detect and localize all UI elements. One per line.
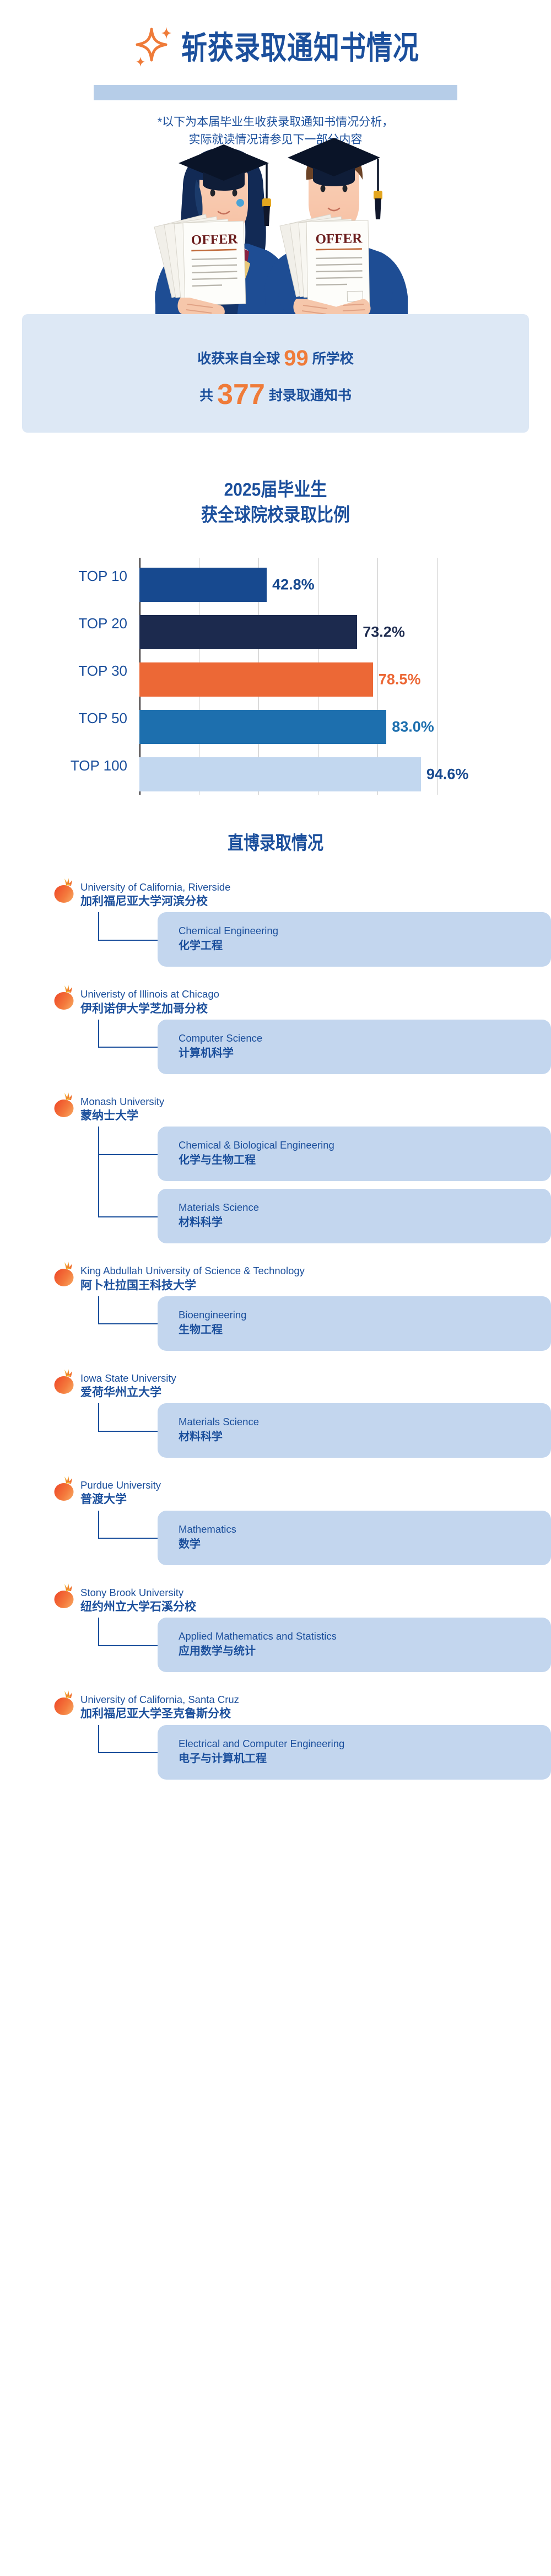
chart-title: 2025届毕业生 获全球院校录取比例 <box>0 477 551 529</box>
university-block: Stony Brook University纽约州立大学石溪分校Applied … <box>0 1585 551 1672</box>
major-item: Applied Mathematics and Statistics应用数学与统… <box>158 1618 551 1672</box>
tree-spine <box>98 1403 99 1431</box>
page-header: 斩获录取通知书情况 *以下为本届毕业生收获录取通知书情况分析， 实际就读情况请参… <box>0 0 551 110</box>
chart-bar: TOP 1042.8% <box>139 568 267 602</box>
major-chip: Chemical & Biological Engineering化学与生物工程 <box>158 1127 551 1181</box>
chart-bar-row: TOP 10094.6% <box>139 751 437 798</box>
chart-category-label: TOP 50 <box>2 710 139 727</box>
university-block: University of California, Riverside加利福尼亚… <box>0 880 551 967</box>
university-names: Purdue University普渡大学 <box>54 1478 551 1507</box>
pomegranate-icon <box>53 1260 77 1287</box>
pomegranate-icon <box>53 983 77 1011</box>
page-title: 斩获录取通知书情况 <box>181 31 419 63</box>
stats-banner: 收获来自全球99所学校 共377封录取通知书 <box>22 314 529 433</box>
pomegranate-icon <box>53 1582 77 1609</box>
major-name-cn: 材料科学 <box>179 1215 534 1230</box>
chart-title-line-2: 获全球院校录取比例 <box>0 503 551 529</box>
chart-value-label: 94.6% <box>426 766 469 783</box>
tree-spine <box>98 1511 99 1538</box>
chart-category-label: TOP 10 <box>2 568 139 585</box>
major-name-en: Mathematics <box>179 1523 534 1536</box>
chart-value-label: 78.5% <box>379 671 421 688</box>
major-item: Chemical & Biological Engineering化学与生物工程 <box>158 1127 551 1181</box>
major-chip: Chemical Engineering化学工程 <box>158 912 551 967</box>
major-chip: Materials Science材料科学 <box>158 1189 551 1243</box>
university-name-cn: 普渡大学 <box>80 1492 551 1507</box>
university-name-en: Iowa State University <box>80 1372 551 1384</box>
pomegranate-icon <box>53 1091 77 1118</box>
stats-line-offers: 共377封录取通知书 <box>22 379 529 411</box>
tree-branch <box>98 1431 158 1432</box>
major-chip: Bioengineering生物工程 <box>158 1296 551 1351</box>
chart-category-label: TOP 100 <box>2 757 139 774</box>
stats-offers-prefix: 共 <box>199 388 213 403</box>
university-name-cn: 加利福尼亚大学河滨分校 <box>80 894 551 909</box>
major-item: Materials Science材料科学 <box>158 1403 551 1458</box>
university-names: Univeristy of Illinois at Chicago伊利诺伊大学芝… <box>54 987 551 1016</box>
phd-section-title: 直博录取情况 <box>0 828 551 855</box>
university-name-en: University of California, Riverside <box>80 881 551 893</box>
major-list: Mathematics数学 <box>80 1511 551 1565</box>
major-chip: Materials Science材料科学 <box>158 1403 551 1458</box>
stats-schools-prefix: 收获来自全球 <box>197 351 280 367</box>
chart-bar-row: TOP 3078.5% <box>139 656 437 703</box>
pomegranate-icon <box>53 983 77 1011</box>
major-list: Chemical Engineering化学工程 <box>80 912 551 967</box>
chart-category-label: TOP 30 <box>2 662 139 680</box>
university-name-en: Univeristy of Illinois at Chicago <box>80 988 551 1000</box>
university-name-cn: 伊利诺伊大学芝加哥分校 <box>80 1001 551 1016</box>
major-name-cn: 电子与计算机工程 <box>179 1752 534 1766</box>
pomegranate-icon <box>53 1689 77 1716</box>
major-name-cn: 应用数学与统计 <box>179 1644 534 1659</box>
title-underbar <box>94 85 457 100</box>
major-item: Electrical and Computer Engineering电子与计算… <box>158 1725 551 1780</box>
major-list: Bioengineering生物工程 <box>80 1296 551 1351</box>
chart-title-line-1: 2025届毕业生 <box>0 477 551 503</box>
university-names: Stony Brook University纽约州立大学石溪分校 <box>54 1585 551 1614</box>
pomegranate-icon <box>53 1260 77 1287</box>
major-item: Bioengineering生物工程 <box>158 1296 551 1351</box>
tree-spine <box>98 1127 99 1216</box>
chart-value-label: 42.8% <box>272 576 315 593</box>
university-name-cn: 阿卜杜拉国王科技大学 <box>80 1278 551 1293</box>
major-name-cn: 材料科学 <box>179 1430 534 1445</box>
university-block: Monash University蒙纳士大学Chemical & Biologi… <box>0 1094 551 1244</box>
tree-branch <box>98 1323 158 1324</box>
major-list: Applied Mathematics and Statistics应用数学与统… <box>80 1618 551 1672</box>
pomegranate-icon <box>53 1689 77 1716</box>
tree-branch <box>98 1752 158 1753</box>
stats-offers-count: 377 <box>213 379 269 411</box>
chart-bar: TOP 5083.0% <box>139 710 386 744</box>
university-block: Purdue University普渡大学Mathematics数学 <box>0 1478 551 1565</box>
admission-rate-chart-section: 2025届毕业生 获全球院校录取比例 TOP 1042.8%TOP 2073.2… <box>0 480 551 811</box>
major-name-cn: 生物工程 <box>179 1323 534 1338</box>
university-names: Monash University蒙纳士大学 <box>54 1094 551 1123</box>
university-name-cn: 纽约州立大学石溪分校 <box>80 1599 551 1614</box>
university-name-en: King Abdullah University of Science & Te… <box>80 1264 551 1277</box>
university-names: King Abdullah University of Science & Te… <box>54 1263 551 1292</box>
major-name-cn: 计算机科学 <box>179 1046 534 1061</box>
major-name-en: Applied Mathematics and Statistics <box>179 1630 534 1643</box>
major-chip: Mathematics数学 <box>158 1511 551 1565</box>
major-name-en: Materials Science <box>179 1201 534 1214</box>
pomegranate-icon <box>53 1582 77 1609</box>
university-block: King Abdullah University of Science & Te… <box>0 1263 551 1350</box>
university-names: University of California, Riverside加利福尼亚… <box>54 880 551 909</box>
chart-bar: TOP 2073.2% <box>139 615 357 649</box>
major-name-en: Electrical and Computer Engineering <box>179 1737 534 1750</box>
university-block: Iowa State University爱荷华州立大学Materials Sc… <box>0 1371 551 1458</box>
chart-category-label: TOP 20 <box>2 615 139 632</box>
major-name-cn: 数学 <box>179 1537 534 1552</box>
chart-bar-row: TOP 5083.0% <box>139 703 437 751</box>
major-list: Computer Science计算机科学 <box>80 1020 551 1074</box>
major-chip: Applied Mathematics and Statistics应用数学与统… <box>158 1618 551 1672</box>
major-list: Materials Science材料科学 <box>80 1403 551 1458</box>
major-name-cn: 化学与生物工程 <box>179 1153 534 1168</box>
pomegranate-icon <box>53 1474 77 1502</box>
stats-schools-count: 99 <box>280 346 312 370</box>
university-name-cn: 蒙纳士大学 <box>80 1108 551 1123</box>
tree-spine <box>98 1618 99 1645</box>
major-name-en: Bioengineering <box>179 1308 534 1322</box>
tree-spine <box>98 1296 99 1324</box>
pomegranate-icon <box>53 1367 77 1395</box>
tree-branch <box>98 1538 158 1539</box>
tree-branch <box>98 1047 158 1048</box>
sparkle-icon <box>132 25 175 70</box>
university-names: University of California, Santa Cruz加利福尼… <box>54 1692 551 1721</box>
stats-schools-suffix: 所学校 <box>312 351 354 367</box>
svg-text:OFFER: OFFER <box>315 231 363 246</box>
university-name-cn: 加利福尼亚大学圣克鲁斯分校 <box>80 1706 551 1721</box>
major-item: Computer Science计算机科学 <box>158 1020 551 1074</box>
pomegranate-icon <box>53 1091 77 1118</box>
chart-bar: TOP 3078.5% <box>139 662 373 697</box>
tree-branch <box>98 1216 158 1217</box>
chart-bar-row: TOP 2073.2% <box>139 608 437 656</box>
major-chip: Computer Science计算机科学 <box>158 1020 551 1074</box>
major-name-en: Materials Science <box>179 1415 534 1429</box>
university-list: University of California, Riverside加利福尼亚… <box>0 880 551 1780</box>
chart-bar-row: TOP 1042.8% <box>139 561 437 608</box>
major-name-en: Chemical & Biological Engineering <box>179 1139 534 1152</box>
pomegranate-icon <box>53 876 77 904</box>
major-chip: Electrical and Computer Engineering电子与计算… <box>158 1725 551 1780</box>
major-list: Electrical and Computer Engineering电子与计算… <box>80 1725 551 1780</box>
chart-value-label: 73.2% <box>363 623 405 640</box>
major-name-en: Chemical Engineering <box>179 924 534 937</box>
stats-offers-suffix: 封录取通知书 <box>269 388 352 403</box>
tree-spine <box>98 912 99 940</box>
university-block: University of California, Santa Cruz加利福尼… <box>0 1692 551 1779</box>
tree-branch <box>98 1645 158 1646</box>
chart-gridline <box>437 558 437 795</box>
tree-branch <box>98 940 158 941</box>
pomegranate-icon <box>53 1367 77 1395</box>
title-row: 斩获录取通知书情况 <box>0 24 551 71</box>
university-name-en: Monash University <box>80 1095 551 1108</box>
stats-line-schools: 收获来自全球99所学校 <box>22 346 529 370</box>
svg-text:OFFER: OFFER <box>191 231 238 247</box>
major-name-cn: 化学工程 <box>179 939 534 953</box>
major-item: Mathematics数学 <box>158 1511 551 1565</box>
chart-area: TOP 1042.8%TOP 2073.2%TOP 3078.5%TOP 508… <box>0 558 551 811</box>
university-name-en: University of California, Santa Cruz <box>80 1693 551 1706</box>
major-name-en: Computer Science <box>179 1032 534 1045</box>
chart-plot: TOP 1042.8%TOP 2073.2%TOP 3078.5%TOP 508… <box>139 558 437 795</box>
major-item: Chemical Engineering化学工程 <box>158 912 551 967</box>
pomegranate-icon <box>53 876 77 904</box>
tree-spine <box>98 1725 99 1753</box>
phd-admissions-section: 直博录取情况 University of California, Riversi… <box>0 830 551 1846</box>
chart-bar: TOP 10094.6% <box>139 757 421 791</box>
tree-spine <box>98 1020 99 1047</box>
university-name-en: Purdue University <box>80 1479 551 1491</box>
pomegranate-icon <box>53 1474 77 1502</box>
tree-branch <box>98 1154 158 1155</box>
major-item: Materials Science材料科学 <box>158 1189 551 1243</box>
university-name-en: Stony Brook University <box>80 1586 551 1599</box>
university-block: Univeristy of Illinois at Chicago伊利诺伊大学芝… <box>0 987 551 1074</box>
university-names: Iowa State University爱荷华州立大学 <box>54 1371 551 1400</box>
chart-value-label: 83.0% <box>392 718 434 735</box>
university-name-cn: 爱荷华州立大学 <box>80 1385 551 1400</box>
major-list: Chemical & Biological Engineering化学与生物工程… <box>80 1127 551 1243</box>
